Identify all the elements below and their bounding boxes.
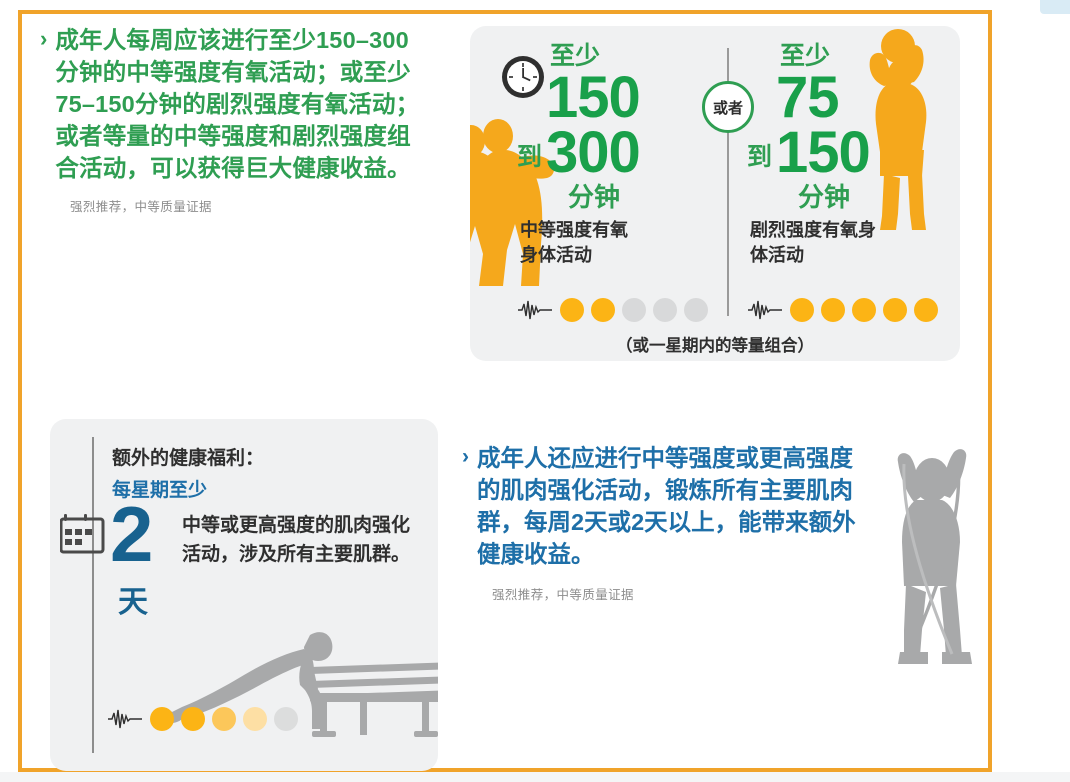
intensity-dot <box>653 298 677 322</box>
or-badge: 或者 <box>702 81 754 133</box>
aerobic-evidence-note: 强烈推荐，中等质量证据 <box>70 196 430 215</box>
intensity-dot <box>274 707 298 731</box>
aerobic-recommendation-block: › 成年人每周应该进行至少150–300分钟的中等强度有氧活动；或至少75–15… <box>40 24 430 215</box>
right-caption-line1: 剧烈强度有氧身 <box>750 218 948 243</box>
muscle-card-big-number: 2 <box>110 497 153 571</box>
card-vertical-rule <box>92 437 94 753</box>
infographic-poster: › 成年人每周应该进行至少150–300分钟的中等强度有氧活动；或至少75–15… <box>18 10 992 772</box>
chevron-right-icon: › <box>40 24 47 54</box>
left-caption: 中等强度有氧 身体活动 <box>520 218 718 268</box>
muscle-intensity-meter <box>108 707 305 731</box>
bottom-strip <box>0 772 1070 782</box>
waveform-icon <box>108 708 142 730</box>
right-primary-value: 75 <box>776 70 948 125</box>
muscle-recommendation-block: › 成年人还应进行中等强度或更高强度的肌肉强化活动，锻炼所有主要肌肉群，每周2天… <box>462 442 862 603</box>
right-unit-label: 分钟 <box>798 182 948 212</box>
intensity-dot <box>150 707 174 731</box>
intensity-dot <box>821 298 845 322</box>
intensity-dot <box>622 298 646 322</box>
vigorous-intensity-column: 至少 75 到 150 分钟 剧烈强度有氧身 体活动 <box>738 42 948 268</box>
intensity-dot <box>790 298 814 322</box>
aerobic-stats-card: 或者 至少 150 到 300 分钟 中等强度有氧 身体活动 <box>470 26 960 361</box>
right-secondary-value: 150 <box>776 125 870 180</box>
intensity-dot <box>684 298 708 322</box>
left-caption-line1: 中等强度有氧 <box>520 218 718 243</box>
intensity-dot <box>591 298 615 322</box>
intensity-dot <box>212 707 236 731</box>
right-range-connector: 到 <box>738 134 776 180</box>
intensity-dot <box>883 298 907 322</box>
muscle-recommendation-text: 成年人还应进行中等强度或更高强度的肌肉强化活动，锻炼所有主要肌肉群，每周2天或2… <box>477 442 862 570</box>
intensity-dot <box>852 298 876 322</box>
left-intensity-meter <box>518 298 715 322</box>
right-caption: 剧烈强度有氧身 体活动 <box>750 218 948 268</box>
left-range-connector: 到 <box>508 134 546 180</box>
combination-note: （或一星期内的等量组合） <box>470 332 960 356</box>
intensity-dot <box>560 298 584 322</box>
screenshot-root: › 成年人每周应该进行至少150–300分钟的中等强度有氧活动；或至少75–15… <box>0 0 1070 782</box>
muscle-evidence-note: 强烈推荐，中等质量证据 <box>492 584 862 603</box>
muscle-card-title: 额外的健康福利： <box>112 443 264 470</box>
resistance-band-person-silhouette <box>884 446 1002 674</box>
top-right-chip[interactable] <box>1040 0 1070 14</box>
intensity-dot <box>914 298 938 322</box>
intensity-dot <box>181 707 205 731</box>
muscle-strengthening-card: 额外的健康福利： 每星期至少 2 天 中等或更高强度的肌肉强化活动，涉及所有主要… <box>50 419 438 771</box>
waveform-icon <box>518 299 552 321</box>
right-caption-line2: 体活动 <box>750 243 948 268</box>
intensity-dot <box>243 707 267 731</box>
left-secondary-value: 300 <box>546 125 640 180</box>
aerobic-recommendation-text: 成年人每周应该进行至少150–300分钟的中等强度有氧活动；或至少75–150分… <box>55 24 430 184</box>
muscle-card-description: 中等或更高强度的肌肉强化活动，涉及所有主要肌群。 <box>182 511 414 569</box>
muscle-card-day-unit: 天 <box>118 577 148 621</box>
calendar-icon <box>60 513 106 555</box>
moderate-intensity-column: 至少 150 到 300 分钟 中等强度有氧 身体活动 <box>508 42 718 268</box>
right-intensity-meter <box>748 298 945 322</box>
left-primary-value: 150 <box>546 70 718 125</box>
chevron-right-icon: › <box>462 442 469 472</box>
waveform-icon <box>748 299 782 321</box>
left-unit-label: 分钟 <box>568 182 718 212</box>
left-caption-line2: 身体活动 <box>520 243 718 268</box>
